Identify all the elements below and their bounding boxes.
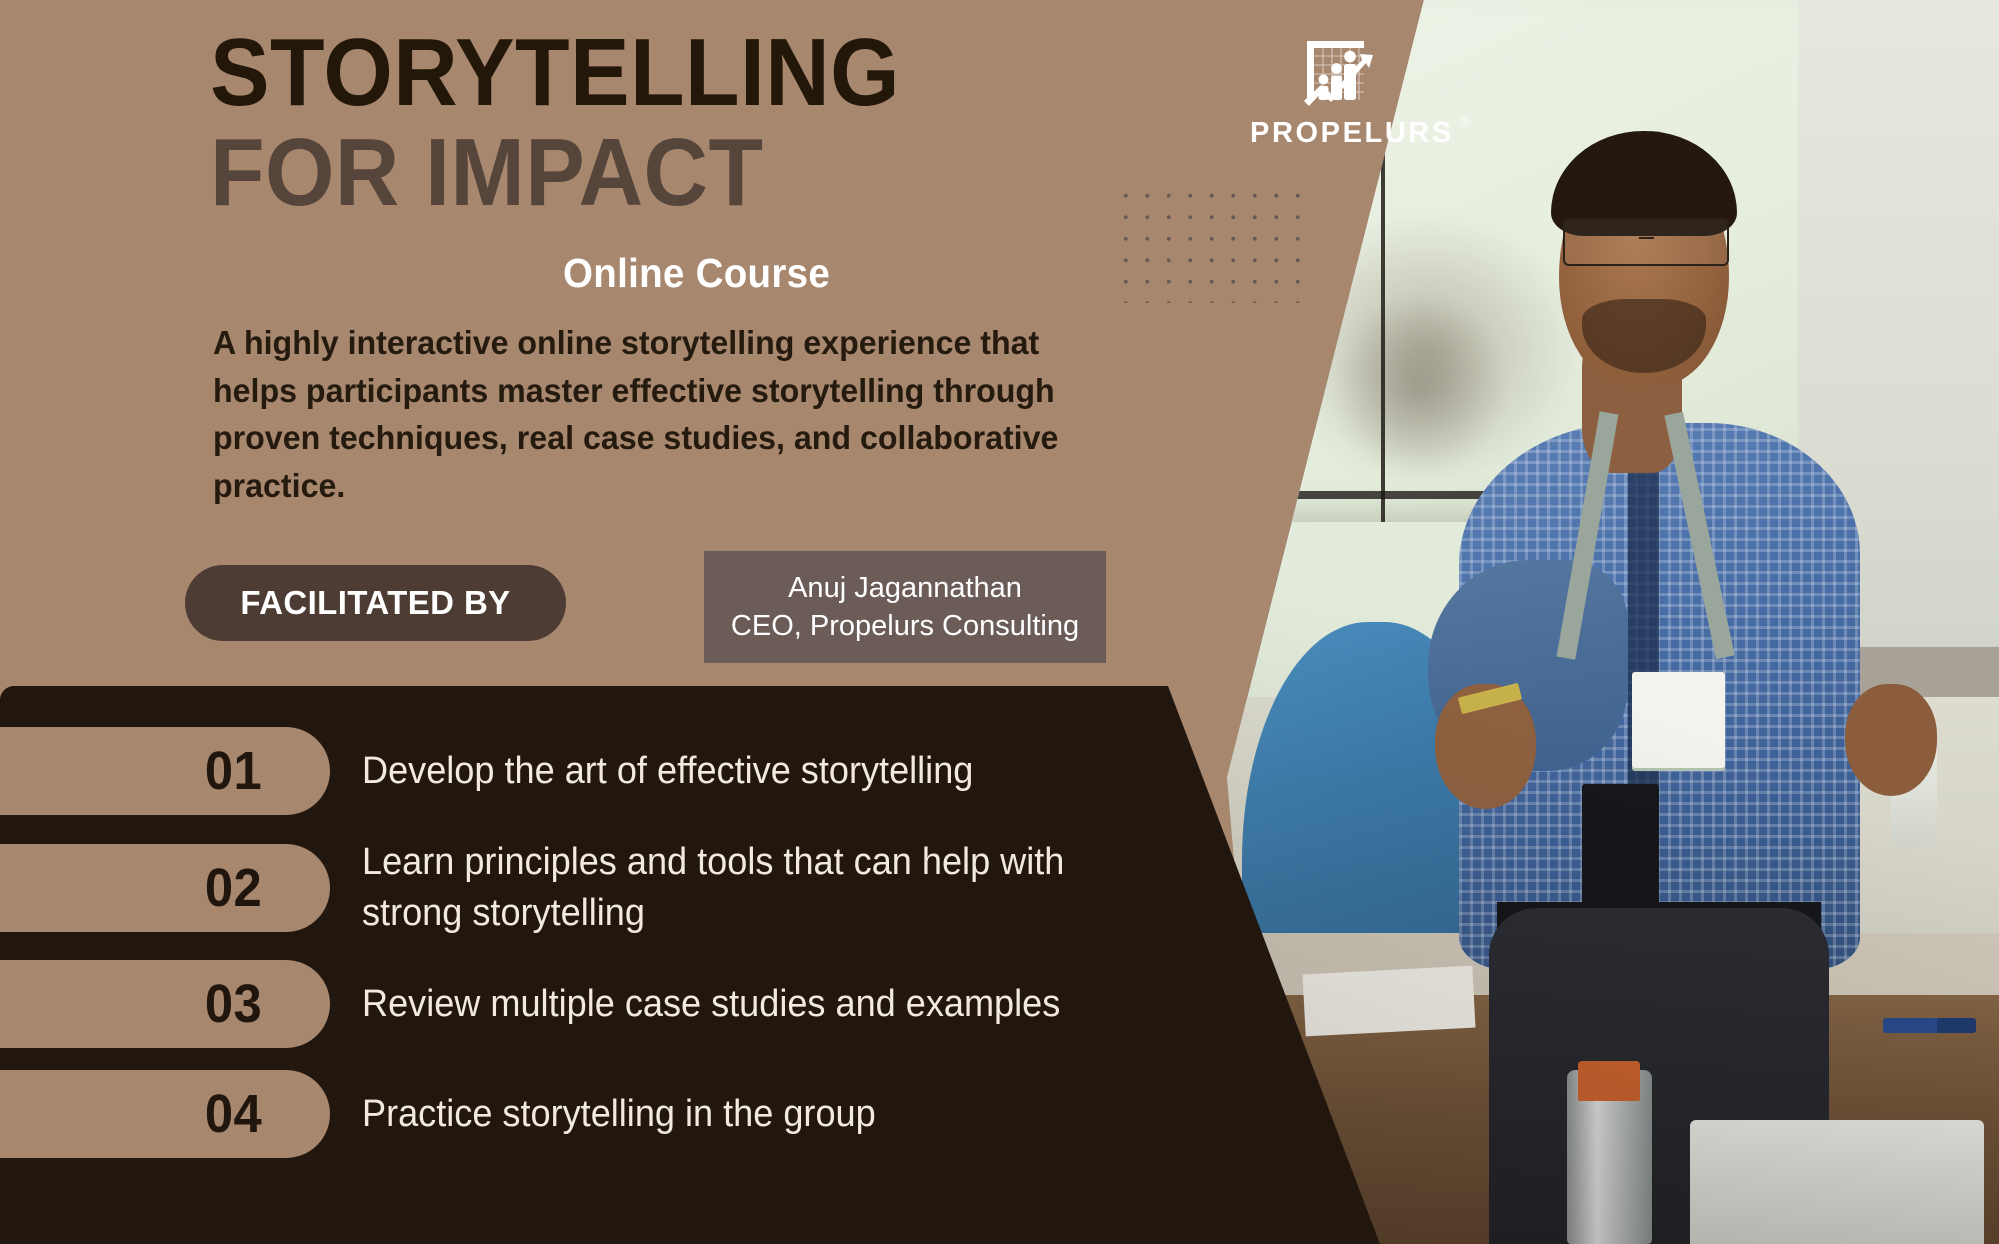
outcome-text: Review multiple case studies and example…	[362, 979, 1060, 1030]
course-promo-poster: STORYTELLING FOR IMPACT Online Course A …	[0, 0, 1999, 1244]
registered-trademark-icon: ®	[1461, 113, 1471, 129]
poster-content: STORYTELLING FOR IMPACT Online Course A …	[0, 0, 1227, 1244]
list-item: 01 Develop the art of effective storytel…	[0, 727, 1200, 815]
growth-chart-people-icon	[1250, 38, 1430, 115]
title-line-1: STORYTELLING	[210, 26, 1047, 120]
outcome-number-pill: 02	[0, 844, 330, 932]
outcome-number-pill: 04	[0, 1070, 330, 1158]
marker-pen-2	[1937, 1018, 1976, 1033]
speaker-right-hand	[1845, 684, 1938, 796]
dot-grid-decoration	[1113, 183, 1317, 303]
brand-wordmark: PROPELURS ®	[1250, 117, 1454, 150]
paper-on-desk	[1303, 966, 1476, 1037]
outcomes-list: 01 Develop the art of effective storytel…	[0, 727, 1200, 1180]
outcome-number: 01	[205, 740, 262, 802]
outcome-text: Develop the art of effective storytellin…	[362, 746, 973, 797]
outcome-number-pill: 01	[0, 727, 330, 815]
list-item: 04 Practice storytelling in the group	[0, 1070, 1200, 1158]
facilitated-by-label: FACILITATED BY	[240, 584, 510, 622]
list-item: 03 Review multiple case studies and exam…	[0, 960, 1200, 1048]
outcome-number: 02	[205, 857, 262, 919]
list-item: 02 Learn principles and tools that can h…	[0, 837, 1200, 938]
water-bottle-cap	[1578, 1061, 1640, 1101]
outcome-text: Practice storytelling in the group	[362, 1089, 876, 1140]
title-line-2: FOR IMPACT	[210, 126, 1047, 220]
id-badge	[1632, 672, 1725, 772]
outcome-number-pill: 03	[0, 960, 330, 1048]
outcome-text: Learn principles and tools that can help…	[362, 837, 1122, 938]
outcome-number: 04	[205, 1083, 262, 1145]
course-format-subtitle: Online Course	[563, 250, 830, 297]
belt-pouch	[1582, 784, 1659, 908]
facilitator-role: CEO, Propelurs Consulting	[731, 609, 1079, 643]
facilitated-by-badge: FACILITATED BY	[185, 565, 566, 641]
projector-screen-image-detail	[1335, 299, 1505, 473]
propelurs-logo: PROPELURS ®	[1250, 38, 1430, 150]
laptop	[1690, 1120, 1983, 1244]
marker-pen-1	[1883, 1018, 1945, 1033]
presenter-photo	[1227, 0, 1999, 1244]
outcome-number: 03	[205, 973, 262, 1035]
page-title: STORYTELLING FOR IMPACT	[210, 26, 1110, 220]
course-description: A highly interactive online storytelling…	[213, 320, 1115, 510]
photo-scene	[1227, 0, 1999, 1244]
facilitator-name: Anuj Jagannathan	[788, 571, 1022, 605]
speaker-glasses	[1563, 218, 1729, 267]
facilitator-card: Anuj Jagannathan CEO, Propelurs Consulti…	[704, 551, 1106, 663]
brand-name: PROPELURS	[1250, 117, 1454, 149]
